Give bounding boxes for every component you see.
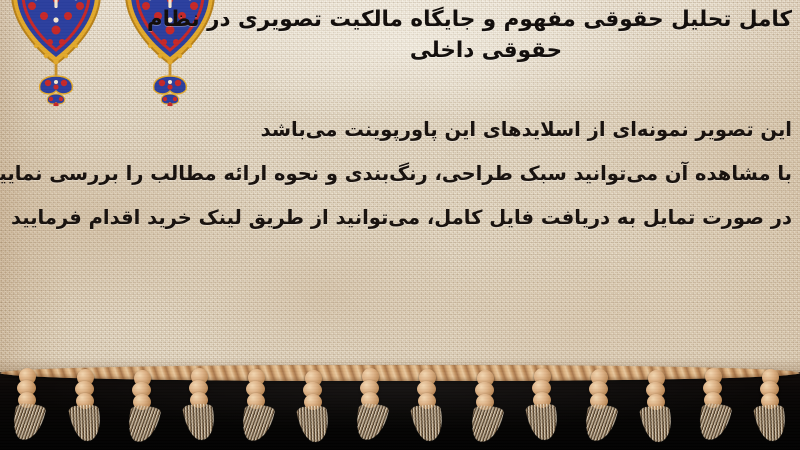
slide-body-text: این تصویر نمونه‌ای از اسلایدهای این پاور… [8, 108, 792, 240]
fringe-tassel [754, 367, 788, 441]
fringe-tassel [69, 367, 103, 441]
fringe-tassel [411, 367, 445, 441]
tassel-skirt [410, 404, 446, 442]
tassel-skirt [695, 403, 732, 442]
fringe-tassel [183, 366, 217, 440]
tassel-skirt [296, 405, 332, 443]
fringe-tassel [11, 366, 45, 440]
body-line-3: در صورت تمایل به دریافت فایل کامل، می‌تو… [8, 196, 792, 240]
fringe-tassel [526, 366, 560, 440]
carpet-black-field [0, 372, 800, 450]
tassel-skirt [753, 404, 789, 442]
fringe-tassel [583, 367, 617, 441]
fringe-braided-cord [0, 365, 800, 381]
tassel-skirt [353, 403, 390, 442]
tassel-skirt [467, 405, 504, 444]
fringe-tassel [697, 366, 731, 440]
tassel-skirt [581, 404, 618, 443]
fringe-tassel [126, 368, 160, 442]
tassel-skirt [124, 405, 161, 444]
fringe-tassel [297, 368, 331, 442]
slide-title: کامل تحلیل حقوقی مفهوم و جایگاه مالکیت ت… [180, 4, 792, 66]
fringe-tassel [469, 368, 503, 442]
fringe-tassel [640, 368, 674, 442]
presentation-slide: کامل تحلیل حقوقی مفهوم و جایگاه مالکیت ت… [0, 0, 800, 450]
fringe-tassel [354, 366, 388, 440]
tassel-skirt [525, 403, 561, 441]
fringe-tassel [240, 367, 274, 441]
tassel-skirt [238, 404, 275, 443]
tassel-skirt [10, 403, 47, 442]
slide-title-line-2: حقوقی داخلی [180, 35, 792, 66]
body-line-1: این تصویر نمونه‌ای از اسلایدهای این پاور… [8, 108, 792, 152]
tassel-skirt [182, 403, 218, 441]
body-line-2: با مشاهده آن می‌توانید سبک طراحی، رنگ‌بن… [8, 152, 792, 196]
tassel-skirt [67, 404, 103, 442]
tassel-skirt [639, 405, 675, 443]
slide-title-line-1: کامل تحلیل حقوقی مفهوم و جایگاه مالکیت ت… [180, 4, 792, 35]
